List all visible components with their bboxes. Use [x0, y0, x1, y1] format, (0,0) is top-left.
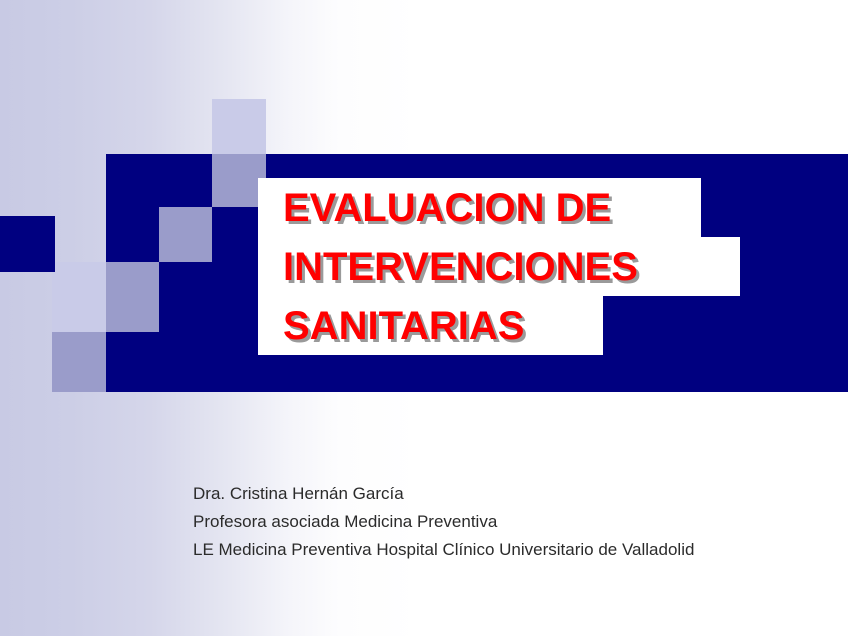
decor-square-mid-overlap-c [52, 332, 106, 392]
presentation-slide: EVALUACION DE INTERVENCIONES SANITARIAS … [0, 0, 848, 636]
subtitle-line-author: Dra. Cristina Hernán García [193, 480, 793, 508]
title-text-1: EVALUACION DE [283, 188, 611, 228]
title-text-3: SANITARIAS [283, 306, 524, 346]
slide-title: EVALUACION DE INTERVENCIONES SANITARIAS [258, 178, 748, 356]
title-line-1: EVALUACION DE [258, 178, 701, 237]
decor-square-navy-left [0, 216, 55, 272]
decor-square-light-r4c1 [52, 262, 106, 332]
subtitle-line-affiliation: LE Medicina Preventiva Hospital Clínico … [193, 536, 793, 564]
title-line-2: INTERVENCIONES [258, 237, 740, 296]
decor-square-mid-overlap-b [106, 262, 159, 332]
slide-subtitle: Dra. Cristina Hernán García Profesora as… [193, 480, 793, 564]
title-text-2: INTERVENCIONES [283, 247, 638, 287]
title-line-3: SANITARIAS [258, 296, 603, 355]
decor-square-light-overlap [159, 207, 212, 262]
subtitle-line-role: Profesora asociada Medicina Preventiva [193, 508, 793, 536]
decor-square-light-top [212, 99, 266, 154]
